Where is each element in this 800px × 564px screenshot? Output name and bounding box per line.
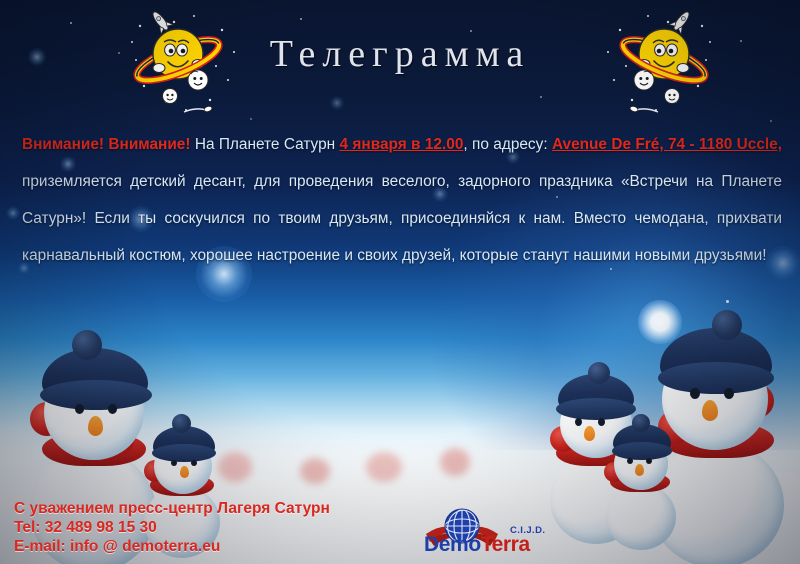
snowman-hat-pompom [72, 330, 102, 360]
snowman-eye [575, 418, 582, 426]
snowman-eye [724, 388, 734, 399]
snowman-body [606, 484, 676, 550]
footer-email: E-mail: info @ demoterra.eu [14, 537, 330, 556]
saturn-mascot-icon [596, 8, 716, 120]
snowman-nose [180, 466, 189, 478]
snowman-eye [108, 404, 117, 414]
snowman-nose [702, 400, 718, 421]
event-datetime: 4 января в 12.00 [340, 136, 464, 153]
snowman-hat-pompom [632, 414, 650, 432]
announcement-text: Внимание! Внимание! На Планете Сатурн 4 … [22, 126, 782, 274]
distant-snowman [300, 458, 330, 484]
event-address: Avenue De Fré, 74 - 1180 Uccle, [552, 136, 782, 153]
poster-header: Телеграмма [0, 0, 800, 118]
demoterra-logo[interactable]: C.I.J.D. DemoTerra [424, 504, 584, 558]
logo-word-terra: Terra [481, 533, 530, 556]
telegram-poster: Телеграмма [0, 0, 800, 564]
text-run: На Планете Сатурн [190, 136, 339, 153]
snowman-nose [635, 464, 644, 476]
footer-signature: С уважением пресс-центр Лагеря Сатурн [14, 499, 330, 518]
snowman-hat-pompom [712, 310, 742, 340]
snowman-hat-brim [612, 442, 672, 460]
snowman-eye [690, 388, 700, 399]
distant-snowman [366, 452, 402, 482]
snowman-hat-brim [556, 398, 636, 420]
footer-phone: Tel: 32 489 98 15 30 [14, 518, 330, 537]
snowman-eye [646, 458, 652, 464]
snowman-hat-brim [40, 380, 152, 410]
distant-snowman [440, 448, 470, 476]
attention-label: Внимание! Внимание! [22, 136, 190, 153]
snowman-eye [191, 460, 197, 466]
snowman-small-right [602, 422, 712, 552]
text-run: приземляется детский десант, для проведе… [22, 173, 782, 264]
snowman-eye [627, 458, 633, 464]
logo-wordmark: DemoTerra [424, 533, 530, 557]
text-run: , по адресу: [463, 136, 552, 153]
snowman-hat-pompom [588, 362, 610, 384]
footer-contact: С уважением пресс-центр Лагеря Сатурн Te… [14, 499, 330, 556]
snowman-eye [75, 404, 84, 414]
announcement-paragraph: Внимание! Внимание! На Планете Сатурн 4 … [22, 126, 782, 274]
logo-word-demo: Demo [424, 533, 481, 556]
snowman-nose [584, 426, 595, 441]
snowman-eye [171, 460, 177, 466]
snowman-nose [88, 416, 103, 436]
snowman-hat-pompom [172, 414, 191, 433]
snowman-hat-brim [152, 444, 216, 462]
